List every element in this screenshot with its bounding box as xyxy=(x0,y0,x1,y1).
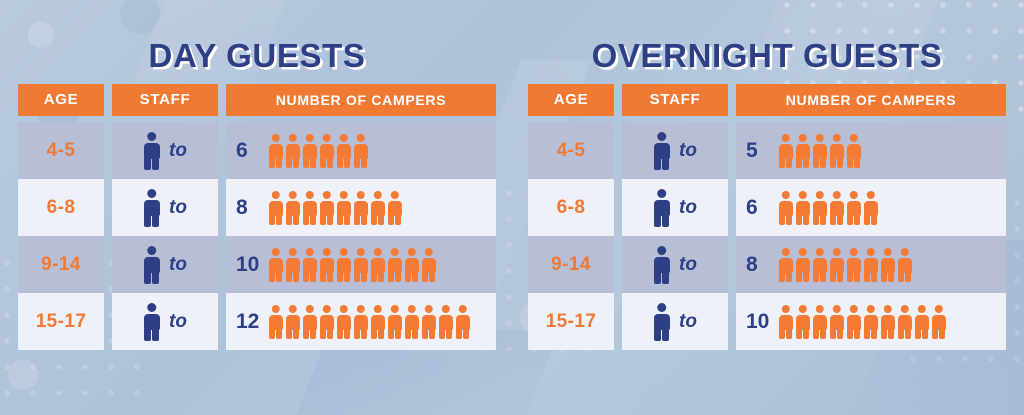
column-age: AGE 4-5 6-8 9-14 15-17 xyxy=(18,84,104,350)
cell-staff: to xyxy=(112,293,218,350)
camper-person-icon xyxy=(812,191,827,225)
staff-person-icon xyxy=(653,246,670,284)
camper-person-icon xyxy=(336,248,351,282)
panel-day-guests: DAY GUESTS AGE 4-5 6-8 9-14 15-17 STAFF … xyxy=(18,34,496,350)
camper-person-icon xyxy=(285,305,300,339)
cell-age: 15-17 xyxy=(528,293,614,350)
column-header-campers: NUMBER OF CAMPERS xyxy=(736,84,1006,116)
circle-accent xyxy=(120,0,160,34)
camper-person-icon xyxy=(421,248,436,282)
panel-overnight-guests: OVERNIGHT GUESTS AGE 4-5 6-8 9-14 15-17 … xyxy=(528,34,1006,350)
cell-age: 9-14 xyxy=(528,236,614,293)
column-staff: STAFF to to to to xyxy=(622,84,728,350)
camper-person-icon xyxy=(353,191,368,225)
camper-person-icon xyxy=(336,134,351,168)
camper-count-label: 5 xyxy=(746,139,770,163)
cell-staff: to xyxy=(622,179,728,236)
camper-person-icon xyxy=(795,191,810,225)
camper-icon-row xyxy=(778,191,878,225)
cell-campers: 8 xyxy=(226,179,496,236)
camper-icon-row xyxy=(268,134,368,168)
camper-icon-row xyxy=(778,305,946,339)
staff-person-icon xyxy=(143,246,160,284)
camper-person-icon xyxy=(302,248,317,282)
column-age: AGE 4-5 6-8 9-14 15-17 xyxy=(528,84,614,350)
column-header-staff: STAFF xyxy=(622,84,728,116)
cell-age: 4-5 xyxy=(528,122,614,179)
column-header-staff: STAFF xyxy=(112,84,218,116)
camper-person-icon xyxy=(778,248,793,282)
camper-person-icon xyxy=(863,305,878,339)
camper-count-label: 6 xyxy=(236,139,260,163)
cell-campers: 12 xyxy=(226,293,496,350)
staff-person-icon xyxy=(143,132,160,170)
camper-person-icon xyxy=(319,248,334,282)
camper-person-icon xyxy=(931,305,946,339)
camper-person-icon xyxy=(880,248,895,282)
cell-age: 4-5 xyxy=(18,122,104,179)
camper-person-icon xyxy=(404,305,419,339)
camper-icon-row xyxy=(268,191,402,225)
ratio-table: AGE 4-5 6-8 9-14 15-17 STAFF to to xyxy=(528,84,1006,350)
staff-person-icon xyxy=(143,303,160,341)
camper-person-icon xyxy=(387,305,402,339)
cell-campers: 6 xyxy=(226,122,496,179)
cell-campers: 10 xyxy=(226,236,496,293)
staff-person-icon xyxy=(653,132,670,170)
camper-person-icon xyxy=(319,305,334,339)
cell-staff: to xyxy=(622,122,728,179)
camper-person-icon xyxy=(897,305,912,339)
circle-accent xyxy=(8,360,38,390)
camper-person-icon xyxy=(387,191,402,225)
camper-count-label: 10 xyxy=(746,310,770,334)
staff-connector-label: to xyxy=(679,197,697,219)
camper-count-label: 10 xyxy=(236,253,260,277)
camper-icon-row xyxy=(778,248,912,282)
camper-person-icon xyxy=(268,191,283,225)
camper-person-icon xyxy=(829,134,844,168)
camper-person-icon xyxy=(285,134,300,168)
column-header-age: AGE xyxy=(18,84,104,116)
panel-title: OVERNIGHT GUESTS xyxy=(528,34,1006,78)
cell-age: 15-17 xyxy=(18,293,104,350)
cell-campers: 5 xyxy=(736,122,1006,179)
column-header-campers: NUMBER OF CAMPERS xyxy=(226,84,496,116)
camper-person-icon xyxy=(812,248,827,282)
column-divider xyxy=(218,84,226,350)
camper-person-icon xyxy=(353,248,368,282)
camper-person-icon xyxy=(795,134,810,168)
camper-person-icon xyxy=(812,305,827,339)
camper-person-icon xyxy=(387,248,402,282)
camper-person-icon xyxy=(302,134,317,168)
column-divider xyxy=(104,84,112,350)
camper-person-icon xyxy=(846,305,861,339)
camper-person-icon xyxy=(336,191,351,225)
column-header-age: AGE xyxy=(528,84,614,116)
camper-person-icon xyxy=(370,305,385,339)
camper-person-icon xyxy=(268,305,283,339)
camper-person-icon xyxy=(455,305,470,339)
camper-icon-row xyxy=(778,134,861,168)
camper-person-icon xyxy=(880,305,895,339)
camper-person-icon xyxy=(370,191,385,225)
panel-title: DAY GUESTS xyxy=(18,34,496,78)
camper-person-icon xyxy=(302,305,317,339)
camper-person-icon xyxy=(846,134,861,168)
camper-count-label: 6 xyxy=(746,196,770,220)
camper-person-icon xyxy=(897,248,912,282)
camper-person-icon xyxy=(846,191,861,225)
cell-campers: 10 xyxy=(736,293,1006,350)
camper-person-icon xyxy=(438,305,453,339)
cell-campers: 6 xyxy=(736,179,1006,236)
ratio-table: AGE 4-5 6-8 9-14 15-17 STAFF to to xyxy=(18,84,496,350)
camper-person-icon xyxy=(285,191,300,225)
camper-person-icon xyxy=(778,134,793,168)
camper-person-icon xyxy=(846,248,861,282)
camper-person-icon xyxy=(812,134,827,168)
camper-person-icon xyxy=(795,248,810,282)
camper-person-icon xyxy=(302,191,317,225)
camper-person-icon xyxy=(353,134,368,168)
column-divider xyxy=(728,84,736,350)
cell-staff: to xyxy=(622,293,728,350)
camper-person-icon xyxy=(829,248,844,282)
camper-person-icon xyxy=(319,134,334,168)
cell-age: 6-8 xyxy=(528,179,614,236)
cell-staff: to xyxy=(112,179,218,236)
camper-count-label: 12 xyxy=(236,310,260,334)
column-divider xyxy=(614,84,622,350)
column-campers: NUMBER OF CAMPERS 5 6 8 10 xyxy=(736,84,1006,350)
column-campers: NUMBER OF CAMPERS 6 8 10 12 xyxy=(226,84,496,350)
camper-person-icon xyxy=(268,134,283,168)
staff-connector-label: to xyxy=(169,197,187,219)
camper-person-icon xyxy=(370,248,385,282)
staff-person-icon xyxy=(653,189,670,227)
cell-age: 9-14 xyxy=(18,236,104,293)
staff-person-icon xyxy=(653,303,670,341)
camper-person-icon xyxy=(421,305,436,339)
camper-person-icon xyxy=(863,191,878,225)
camper-person-icon xyxy=(778,191,793,225)
infographic-canvas: DAY GUESTS AGE 4-5 6-8 9-14 15-17 STAFF … xyxy=(0,0,1024,415)
camper-person-icon xyxy=(863,248,878,282)
camper-person-icon xyxy=(795,305,810,339)
camper-person-icon xyxy=(778,305,793,339)
camper-person-icon xyxy=(319,191,334,225)
column-staff: STAFF to to to to xyxy=(112,84,218,350)
camper-person-icon xyxy=(404,248,419,282)
camper-person-icon xyxy=(268,248,283,282)
staff-connector-label: to xyxy=(169,254,187,276)
camper-count-label: 8 xyxy=(746,253,770,277)
camper-count-label: 8 xyxy=(236,196,260,220)
staff-connector-label: to xyxy=(679,311,697,333)
camper-person-icon xyxy=(353,305,368,339)
camper-icon-row xyxy=(268,248,436,282)
camper-person-icon xyxy=(914,305,929,339)
camper-person-icon xyxy=(285,248,300,282)
staff-connector-label: to xyxy=(169,311,187,333)
cell-staff: to xyxy=(112,236,218,293)
camper-icon-row xyxy=(268,305,470,339)
staff-connector-label: to xyxy=(679,140,697,162)
camper-person-icon xyxy=(829,191,844,225)
camper-person-icon xyxy=(336,305,351,339)
staff-person-icon xyxy=(143,189,160,227)
cell-campers: 8 xyxy=(736,236,1006,293)
cell-staff: to xyxy=(622,236,728,293)
staff-connector-label: to xyxy=(679,254,697,276)
cell-staff: to xyxy=(112,122,218,179)
camper-person-icon xyxy=(829,305,844,339)
staff-connector-label: to xyxy=(169,140,187,162)
cell-age: 6-8 xyxy=(18,179,104,236)
